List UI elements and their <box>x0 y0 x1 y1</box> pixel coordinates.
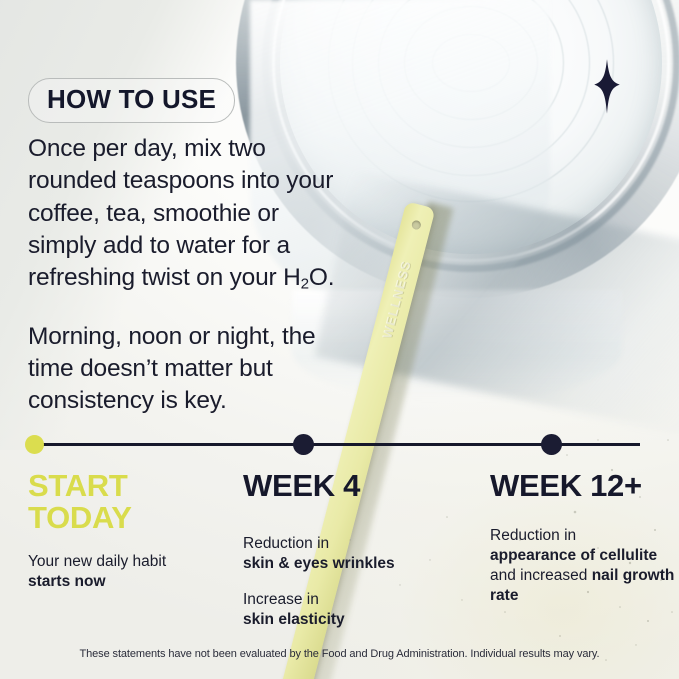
benefit-bold: starts now <box>28 573 106 590</box>
milestone-week-4: WEEK 4 Reduction in skin & eyes wrinkles… <box>243 470 468 630</box>
benefit-bold: skin & eyes wrinkles <box>243 555 395 572</box>
benefit-light: Reduction in <box>490 527 576 544</box>
milestone-benefit: Your new daily habit starts now <box>28 552 233 592</box>
h2o-subscript: 2 <box>301 276 309 293</box>
benefit-bold: appearance of cellulite <box>490 547 657 564</box>
milestone-week-12: WEEK 12+ Reduction in appearance of cell… <box>490 470 675 606</box>
instructions-paragraph-1-part-a: Once per day, mix two rounded teaspoons … <box>28 135 333 291</box>
benefit-light: Increase in <box>243 591 319 608</box>
milestone-heading: START TODAY <box>28 470 233 534</box>
milestone-start: START TODAY Your new daily habit starts … <box>28 470 233 592</box>
instructions-paragraph-1-part-b: O. <box>309 264 334 291</box>
milestone-benefit: Increase in skin elasticity <box>243 590 468 630</box>
milestone-heading: WEEK 12+ <box>490 470 675 502</box>
benefit-bold: skin elasticity <box>243 611 345 628</box>
milestone-benefit: Reduction in skin & eyes wrinkles <box>243 534 468 574</box>
timeline-dot-start <box>25 435 44 454</box>
instructions-paragraph-1: Once per day, mix two rounded teaspoons … <box>28 133 340 295</box>
how-to-use-label: HOW TO USE <box>47 84 216 114</box>
benefit-light: Reduction in <box>243 535 329 552</box>
infographic-canvas: WELLNESS HOW TO USE Once per day, mix tw… <box>0 0 679 679</box>
timeline-dot-week-12 <box>541 434 562 455</box>
benefit-light: and increased <box>490 567 592 584</box>
milestone-benefit: Reduction in appearance of cellulite and… <box>490 526 675 607</box>
timeline-dot-week-4 <box>293 434 314 455</box>
instructions-paragraph-2: Morning, noon or night, the time doesn’t… <box>28 321 340 418</box>
disclaimer-text: These statements have not been evaluated… <box>0 648 679 660</box>
milestone-heading: WEEK 4 <box>243 470 468 502</box>
how-to-use-badge: HOW TO USE <box>28 78 235 123</box>
instructions-copy: Once per day, mix two rounded teaspoons … <box>28 133 340 418</box>
benefit-light: Your new daily habit <box>28 553 166 570</box>
